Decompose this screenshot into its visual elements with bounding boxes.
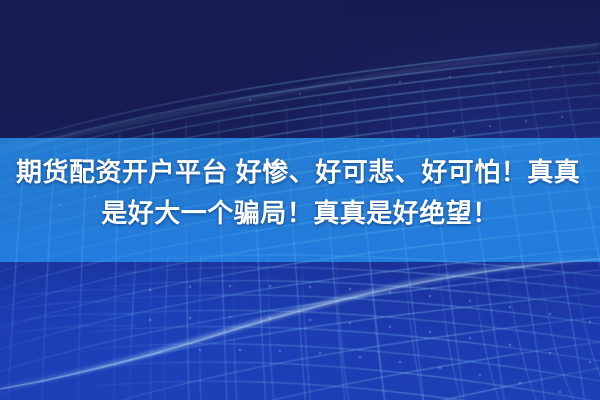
headline-line-1: 期货配资开户平台 好惨、好可悲、好可怕！真真 [16,152,584,193]
banner-headline: 期货配资开户平台 好惨、好可悲、好可怕！真真 是好大一个骗局！真真是好绝望！ [0,152,600,234]
headline-line-2: 是好大一个骗局！真真是好绝望！ [16,193,584,234]
promo-banner: 期货配资开户平台 好惨、好可悲、好可怕！真真 是好大一个骗局！真真是好绝望！ [0,0,600,400]
